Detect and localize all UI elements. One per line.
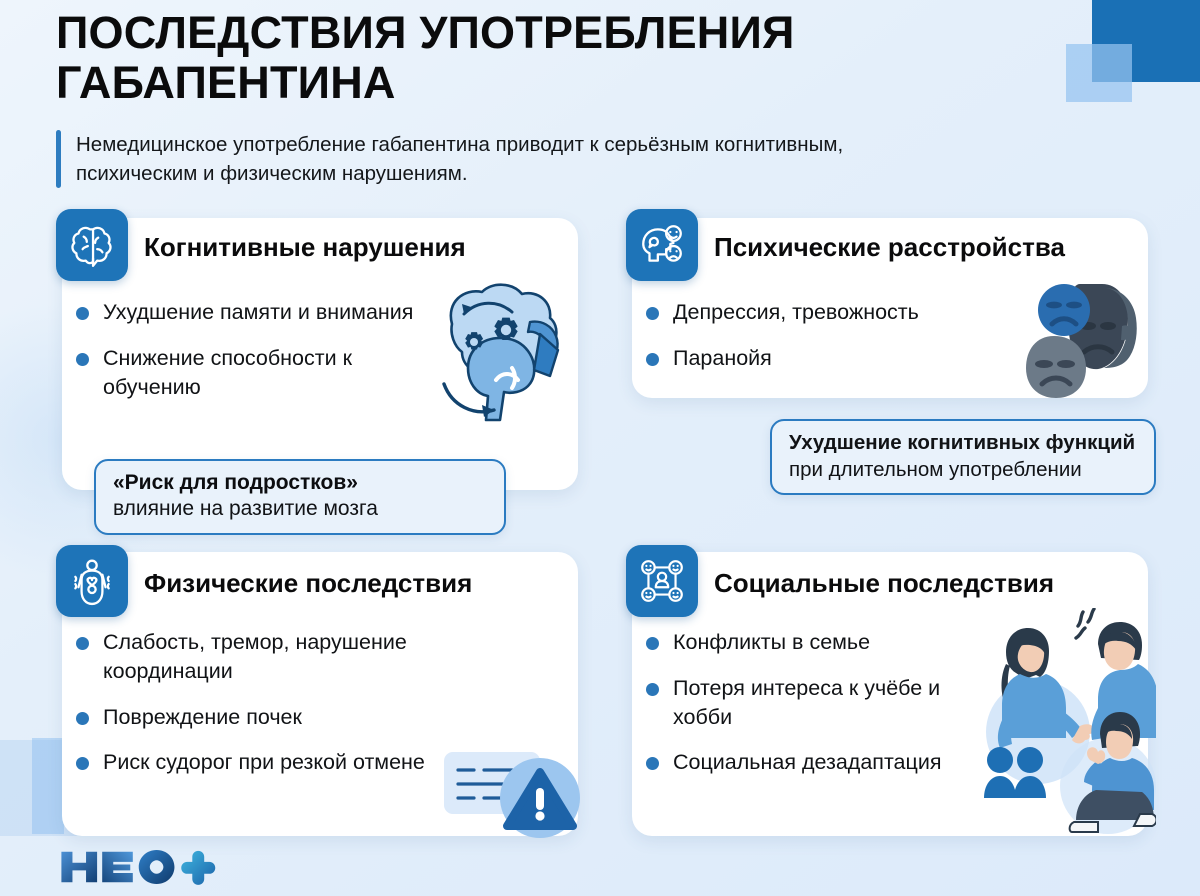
subtitle-text: Немедицинское употребление габапентина п… xyxy=(76,130,956,188)
bullet-text: Слабость, тремор, нарушение координации xyxy=(103,628,476,686)
bullet-text: Потеря интереса к учёбе и хобби xyxy=(673,674,976,732)
callout-longterm: Ухудшение когнитивных функций при длител… xyxy=(770,419,1156,495)
bullet-text: Риск судорог при резкой отмене xyxy=(103,748,425,777)
badge-social xyxy=(626,545,698,617)
list-item: Социальная дезадаптация xyxy=(646,748,976,777)
decorative-square-bottom-2 xyxy=(32,738,64,834)
list-item: Снижение способности к обучению xyxy=(76,344,416,402)
brain-icon xyxy=(67,220,117,270)
bullet-dot-icon xyxy=(646,757,659,770)
list-item: Повреждение почек xyxy=(76,703,476,732)
bullet-text: Повреждение почек xyxy=(103,703,302,732)
bullet-dot-icon xyxy=(646,637,659,650)
list-item: Ухудшение памяти и внимания xyxy=(76,298,416,327)
list-item: Потеря интереса к учёбе и хобби xyxy=(646,674,976,732)
header: ПОСЛЕДСТВИЯ УПОТРЕБЛЕНИЯ ГАБАПЕНТИНА Нем… xyxy=(56,8,1056,188)
card-title-mental: Психические расстройства xyxy=(714,232,1065,263)
list-item: Риск судорог при резкой отмене xyxy=(76,748,476,777)
bullet-list-cognitive: Ухудшение памяти и внимания Снижение спо… xyxy=(76,298,416,401)
list-item: Конфликты в семье xyxy=(646,628,976,657)
neo-plus-logo-icon xyxy=(58,846,228,888)
bullet-dot-icon xyxy=(76,353,89,366)
callout-teen-rest: влияние на развитие мозга xyxy=(113,496,487,522)
callout-longterm-text: Ухудшение когнитивных функций при длител… xyxy=(789,430,1137,483)
subtitle-block: Немедицинское употребление габапентина п… xyxy=(56,130,1056,188)
badge-physical xyxy=(56,545,128,617)
decorative-square-light xyxy=(1066,44,1132,102)
list-item: Депрессия, тревожность xyxy=(646,298,1016,327)
bullet-text: Паранойя xyxy=(673,344,772,373)
badge-cognitive xyxy=(56,209,128,281)
page-title: ПОСЛЕДСТВИЯ УПОТРЕБЛЕНИЯ ГАБАПЕНТИНА xyxy=(56,8,1056,108)
decorative-square-dark xyxy=(1092,0,1200,82)
bullet-dot-icon xyxy=(646,683,659,696)
bullet-list-mental: Депрессия, тревожность Паранойя xyxy=(646,298,1016,373)
bullet-dot-icon xyxy=(646,307,659,320)
card-title-cognitive: Когнитивные нарушения xyxy=(144,232,466,263)
card-title-physical: Физические последствия xyxy=(144,568,472,599)
bullet-text: Ухудшение памяти и внимания xyxy=(103,298,413,327)
list-item: Слабость, тремор, нарушение координации xyxy=(76,628,476,686)
subtitle-accent-bar xyxy=(56,130,61,188)
bullet-dot-icon xyxy=(646,353,659,366)
human-body-icon xyxy=(67,556,117,606)
badge-mental xyxy=(626,209,698,281)
callout-longterm-rest: при длительном употреблении xyxy=(789,458,1082,481)
callout-longterm-bold: Ухудшение когнитивных функций xyxy=(789,431,1135,454)
callout-teen-risk: «Риск для подростков» влияние на развити… xyxy=(94,459,506,535)
list-item: Паранойя xyxy=(646,344,1016,373)
people-network-icon xyxy=(637,556,687,606)
footer-logo xyxy=(58,846,228,888)
bullet-dot-icon xyxy=(76,757,89,770)
bullet-text: Социальная дезадаптация xyxy=(673,748,941,777)
bullet-text: Депрессия, тревожность xyxy=(673,298,919,327)
bullet-dot-icon xyxy=(76,307,89,320)
head-emotions-icon xyxy=(637,220,687,270)
card-title-social: Социальные последствия xyxy=(714,568,1054,599)
bullet-list-social: Конфликты в семье Потеря интереса к учёб… xyxy=(646,628,976,777)
bullet-dot-icon xyxy=(76,637,89,650)
bullet-dot-icon xyxy=(76,712,89,725)
bullet-text: Снижение способности к обучению xyxy=(103,344,416,402)
bullet-text: Конфликты в семье xyxy=(673,628,870,657)
bullet-list-physical: Слабость, тремор, нарушение координации … xyxy=(76,628,476,777)
callout-teen-bold: «Риск для подростков» xyxy=(113,470,487,496)
